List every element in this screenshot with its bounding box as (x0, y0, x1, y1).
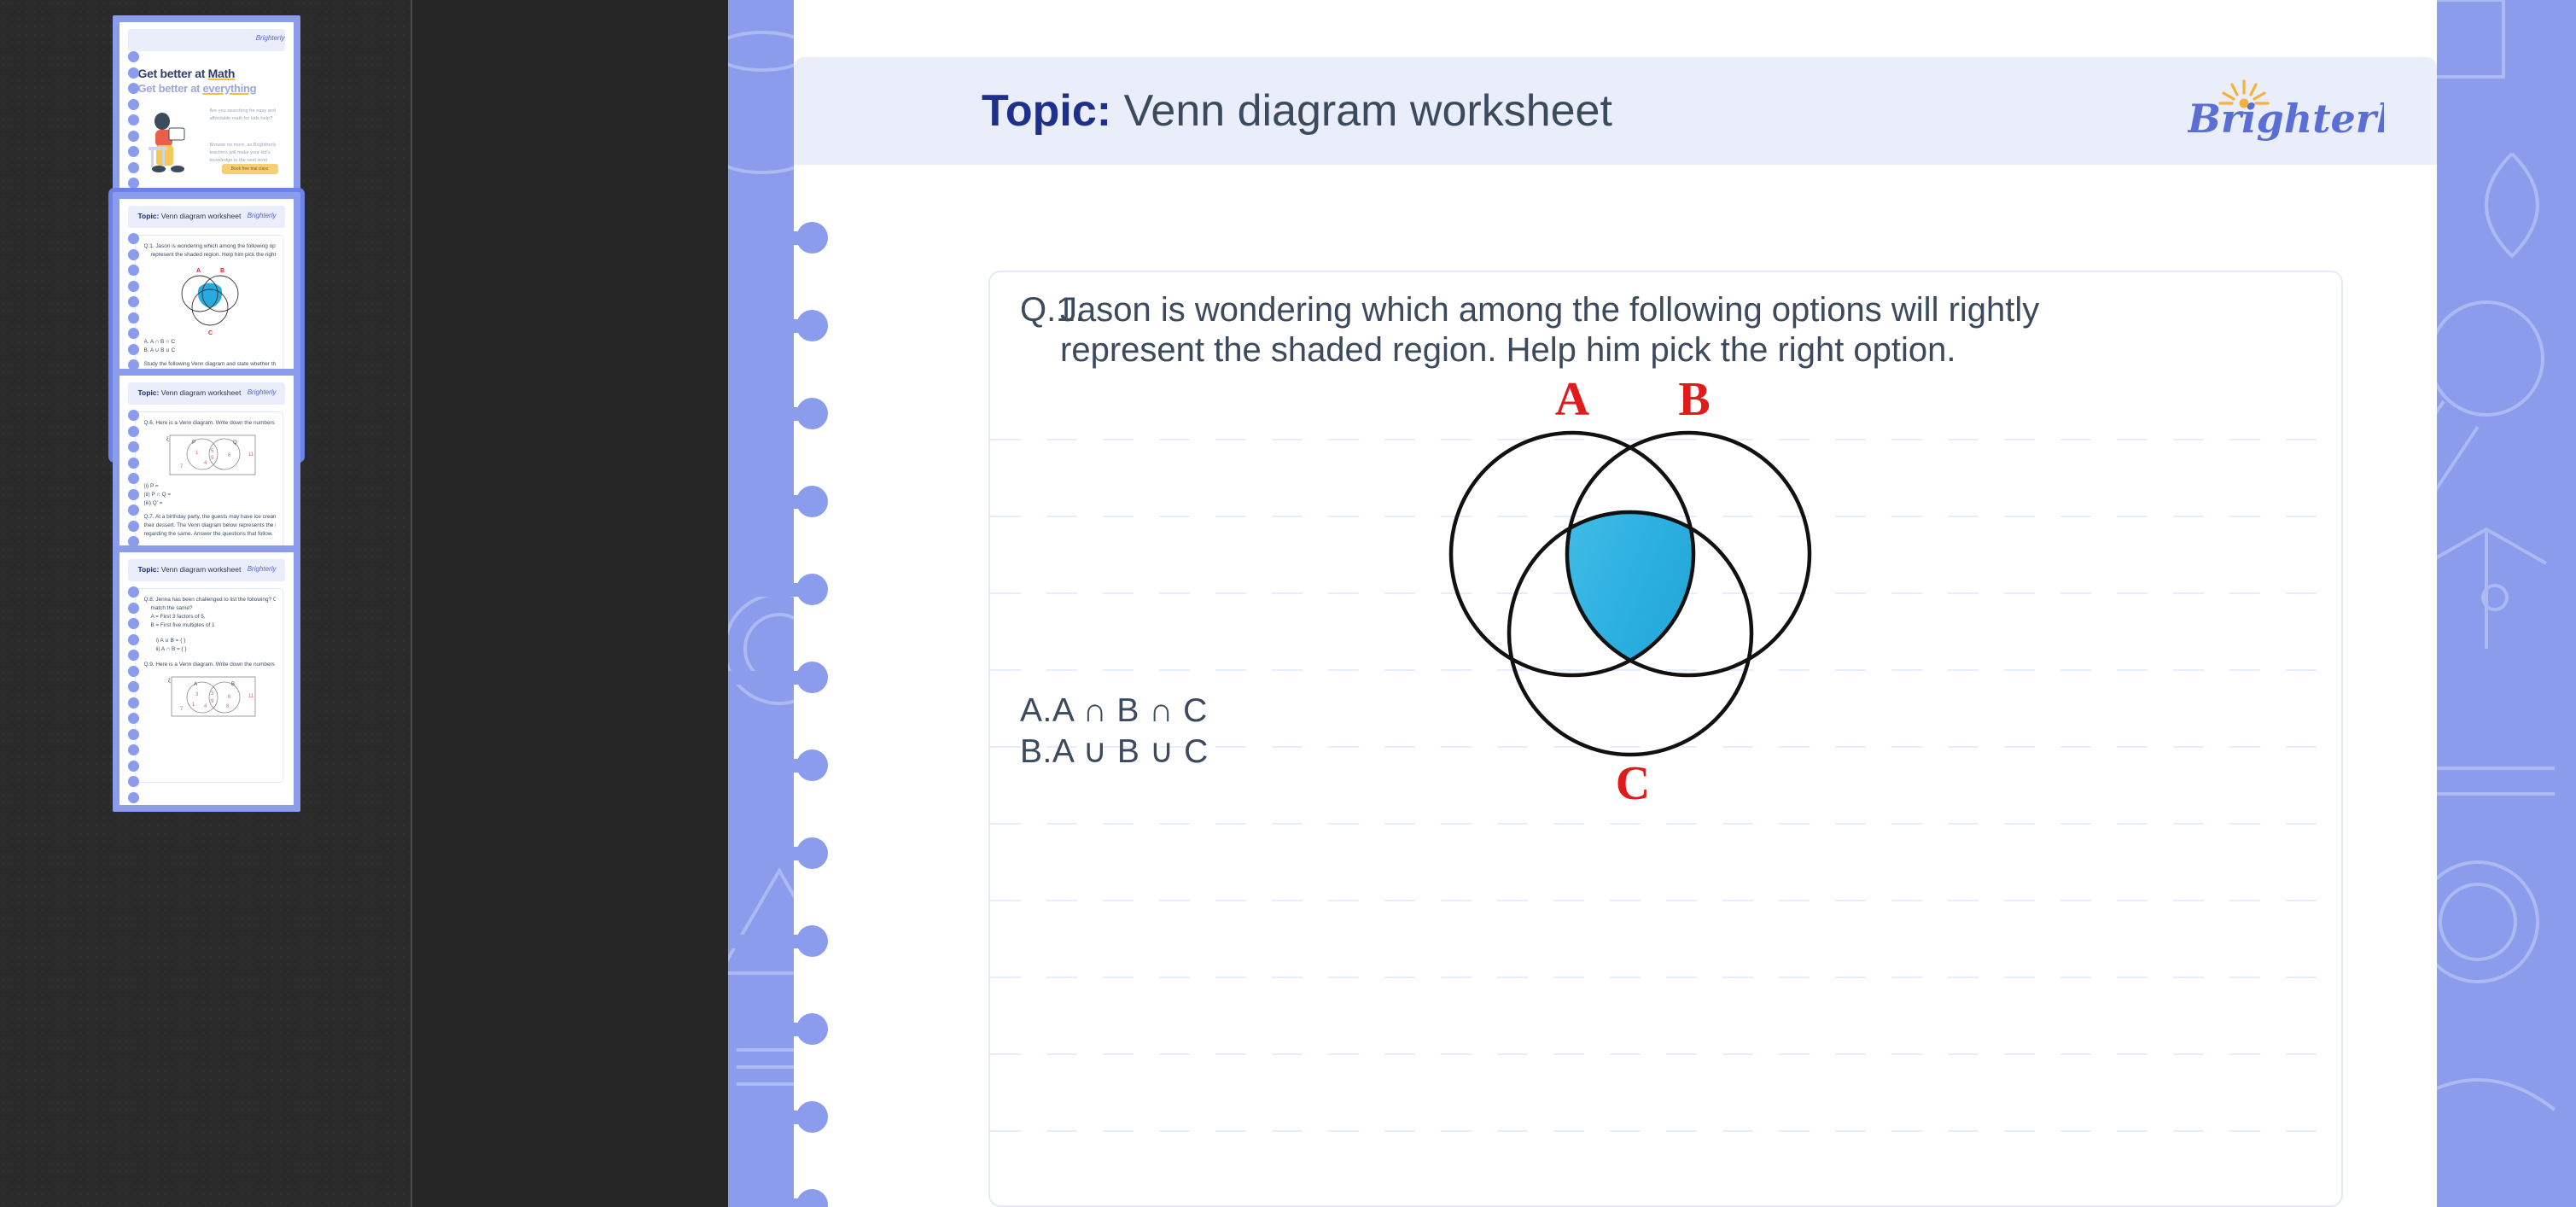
thumb2-line: A. A ∩ B ∩ C (144, 338, 276, 347)
spiral-ring (728, 1101, 830, 1133)
thumb1-heading-2-text: Get better at (138, 82, 203, 95)
option-a-text: A ∩ B ∩ C (1052, 692, 1208, 729)
svg-text:5: 5 (211, 449, 214, 454)
thumb2-venn-1: A B C (159, 263, 261, 336)
thumbnail-sidebar[interactable]: Brighterly Get better at Math Get better… (0, 0, 412, 1207)
thumb1-paragraph-2: Browse no more, as Brightherly teachers … (210, 142, 282, 165)
thumb4-body: Q.8. Jenna has been challenged to list t… (135, 588, 283, 783)
thumb4-line: i) A ∪ B = { } (144, 637, 276, 645)
thumb3-line: regarding the same. Answer the questions… (144, 530, 276, 539)
thumb3-line: Q.6. Here is a Venn diagram. Write down … (144, 419, 276, 428)
svg-text:4: 4 (204, 461, 207, 466)
question-card: Q.1. Jason is wondering which among the … (988, 271, 2343, 1207)
option-a[interactable]: A.A ∩ B ∩ C (1020, 692, 1208, 730)
spiral-ring (728, 398, 830, 429)
thumbnail-page-4[interactable]: Topic: Venn diagram worksheet Brighterly… (113, 545, 300, 812)
guide-line (990, 1053, 2341, 1055)
spiral-ring (728, 574, 830, 605)
svg-text:6: 6 (228, 453, 231, 458)
thumb2-topic: Topic: Venn diagram worksheet (138, 212, 242, 220)
option-a-key: A. (1020, 692, 1052, 729)
guide-line (990, 977, 2341, 978)
spiral-ring (728, 749, 830, 781)
thumb2-line: represent the shaded region. Help him pi… (144, 251, 276, 259)
thumb3-logo: Brighterly (248, 388, 277, 396)
thumb2-line: Q.1. Jason is wondering which among the … (144, 242, 276, 251)
thumb2-topic-title: Venn diagram worksheet (161, 212, 242, 220)
thumb1-heading-1-underline: Math (208, 67, 235, 80)
thumb3-topic-title: Venn diagram worksheet (161, 388, 242, 397)
spiral-ring (728, 310, 830, 341)
svg-text:1: 1 (192, 703, 195, 708)
question-line-1: Jason is wondering which among the follo… (1060, 291, 2039, 329)
thumbnail-page-4-content: Topic: Venn diagram worksheet Brighterly… (119, 552, 294, 805)
thumb2-header: Topic: Venn diagram worksheet Brighterly (128, 206, 285, 228)
svg-text:B: B (231, 682, 235, 687)
worksheet-header: Topic: Venn diagram worksheet Brighterly (794, 57, 2437, 165)
svg-text:9: 9 (211, 699, 214, 704)
venn-diagram: A B C (1332, 379, 1929, 806)
option-b-key: B. (1020, 733, 1052, 770)
option-b-text: A ∪ B ∪ C (1052, 733, 1209, 770)
thumb4-logo: Brighterly (248, 565, 277, 573)
svg-text:7: 7 (180, 464, 184, 469)
thumb1-logo: Brighterly (256, 34, 285, 42)
svg-text:A: A (196, 268, 201, 274)
logo-wordmark: Brighterly (2188, 96, 2384, 142)
topic-prefix: Topic: (982, 86, 1111, 136)
option-b[interactable]: B.A ∪ B ∪ C (1020, 732, 1209, 771)
thumb3-topic-prefix: Topic: (138, 388, 160, 397)
thumb4-topic-prefix: Topic: (138, 565, 160, 574)
svg-text:1: 1 (195, 451, 199, 456)
spiral-ring (728, 925, 830, 957)
thumb4-topic: Topic: Venn diagram worksheet (138, 565, 242, 574)
svg-text:7: 7 (180, 707, 184, 712)
thumb3-line: (ii) P ∩ Q = (144, 491, 276, 499)
guide-line (990, 823, 2341, 825)
thumb2-line: B. A ∪ B ∪ C (144, 347, 276, 355)
thumb4-venn-1: AB 3 39 611 14 87 ξ (154, 672, 265, 721)
svg-text:A: A (194, 682, 197, 687)
thumb4-line: ii) A ∩ B = { } (144, 645, 276, 654)
venn-label-c: C (1616, 757, 1650, 806)
svg-text:9: 9 (211, 456, 214, 461)
thumb4-line: A = First 3 factors of 5, (144, 613, 276, 621)
spiral-ring (728, 1189, 830, 1207)
worksheet-stage: 5 ∫ (728, 0, 2576, 1207)
svg-text:ξ: ξ (166, 437, 169, 442)
question-line-2: represent the shaded region. Help him pi… (1060, 331, 1956, 370)
svg-text:11: 11 (248, 694, 254, 699)
guide-line (990, 1130, 2341, 1132)
svg-text:C: C (208, 330, 213, 336)
thumb3-line: Q.7. At a birthday party, the guests may… (144, 513, 276, 522)
thumb4-line: Q.8. Jenna has been challenged to list t… (144, 596, 276, 604)
topic-title: Venn diagram worksheet (1124, 86, 1612, 136)
thumb3-topic: Topic: Venn diagram worksheet (138, 388, 242, 397)
svg-text:11: 11 (248, 452, 254, 458)
spiral-ring (728, 837, 830, 869)
thumb4-spiral (128, 586, 142, 788)
spiral-binding (728, 222, 865, 1207)
thumb2-logo: Brighterly (248, 212, 277, 219)
spiral-ring (728, 662, 830, 693)
thumb2-line: Study the following Venn diagram and sta… (144, 360, 276, 369)
spiral-ring (728, 486, 830, 517)
svg-text:ξ: ξ (168, 679, 171, 684)
thumb1-heading-2-underline: everything (202, 82, 256, 95)
svg-text:3: 3 (195, 692, 199, 697)
thumb3-line: (iii) Q' = (144, 499, 276, 508)
svg-text:6: 6 (228, 695, 231, 700)
thumb4-topic-title: Venn diagram worksheet (161, 565, 242, 574)
thumb4-line: Q.9. Here is a Venn diagram. Write down … (144, 661, 276, 669)
venn-label-b: B (1678, 379, 1710, 426)
thumb4-header: Topic: Venn diagram worksheet Brighterly (128, 559, 285, 581)
thumb3-header: Topic: Venn diagram worksheet Brighterly (128, 382, 285, 405)
brighterly-logo: Brighterly (2188, 79, 2384, 143)
svg-text:B: B (220, 268, 224, 274)
svg-text:Q: Q (233, 440, 237, 446)
svg-text:P: P (192, 440, 195, 446)
thumb1-heading-2: Get better at everything (138, 82, 257, 95)
thumb2-topic-prefix: Topic: (138, 212, 160, 220)
thumb3-line: their dessert. The Venn diagram below re… (144, 522, 276, 530)
svg-text:3: 3 (211, 691, 214, 697)
thumb3-line: (i) P = (144, 482, 276, 491)
thumb4-line: match the same? (144, 604, 276, 613)
thumb1-heading-1: Get better at Math (138, 67, 236, 80)
spiral-ring (728, 222, 830, 254)
svg-text:4: 4 (204, 704, 207, 709)
thumb1-paragraph-1: Are you searching for easy and affordabl… (210, 108, 282, 123)
thumb4-line: B = First five multiples of 1 (144, 621, 276, 630)
app-window: Brighterly Get better at Math Get better… (0, 0, 2576, 1207)
spiral-ring (728, 1013, 830, 1045)
guide-line (990, 900, 2341, 901)
thumb3-venn-1: PQ 1 59 611 47 ξ (154, 430, 265, 480)
thumb1-heading-1-text: Get better at (138, 67, 208, 80)
thumb1-cta-button[interactable]: Book free trial class (222, 164, 278, 174)
svg-text:8: 8 (226, 704, 230, 709)
thumb1-illustration (140, 109, 196, 174)
page-title: Topic: Venn diagram worksheet (982, 85, 1612, 137)
thumbnail-slide-4[interactable]: Topic: Venn diagram worksheet Brighterly… (0, 545, 412, 812)
venn-label-a: A (1555, 379, 1590, 426)
